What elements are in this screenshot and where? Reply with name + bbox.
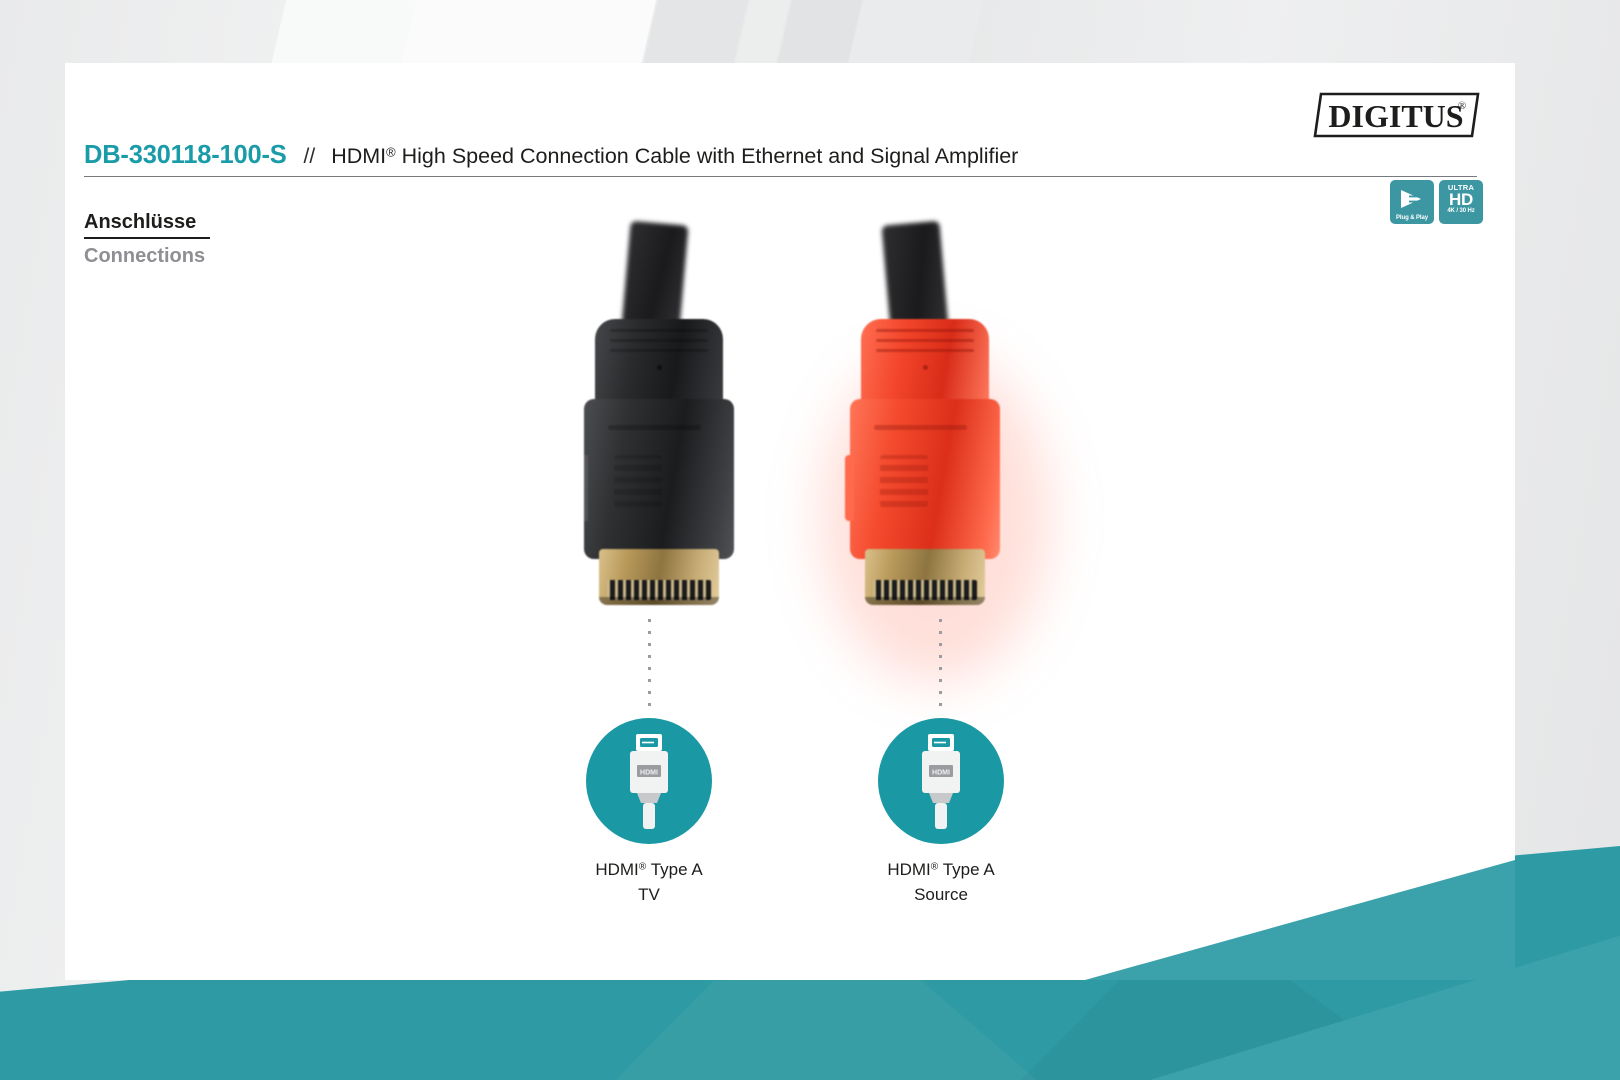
strain-relief-collar — [595, 319, 723, 411]
badge-plug-and-play-caption: Plug & Play — [1390, 215, 1434, 224]
connector-label-rest: Type A — [646, 860, 702, 879]
title-main: HDMI — [331, 144, 386, 168]
card-teal-corner — [1085, 860, 1515, 980]
connector-sublabel-source: Source — [831, 883, 1051, 908]
leader-line-source — [939, 619, 942, 715]
gold-plug-tip — [599, 549, 719, 605]
logo-wordmark: DIGITUS — [1328, 98, 1463, 134]
hdmi-icon-text: HDMI — [932, 770, 950, 777]
logo-trademark: ® — [1458, 100, 1466, 112]
section-heading: Anschlüsse Connections — [84, 211, 210, 268]
badge-ultra-hd-line2: HD — [1449, 192, 1473, 208]
leader-line-tv — [648, 619, 651, 715]
connector-shell — [584, 399, 734, 559]
connector-label-source: HDMI® Type A Source — [831, 858, 1051, 907]
connector-label-rest: Type A — [938, 860, 994, 879]
connector-photo-tv — [563, 223, 763, 623]
hdmi-emboss — [614, 455, 662, 507]
hdmi-connector-icon: HDMI — [878, 718, 1004, 844]
title-rest: High Speed Connection Cable with Etherne… — [396, 144, 1019, 168]
section-heading-en: Connections — [84, 245, 210, 268]
product-sku: DB-330118-100-S — [84, 141, 287, 170]
play-arrow-icon — [1390, 180, 1434, 215]
connector-photo-source — [835, 223, 1035, 623]
collar-dot — [657, 365, 662, 370]
connector-icon-group-source: HDMI HDMI® Type A Source — [831, 718, 1051, 907]
connector-label-tv: HDMI® Type A TV — [539, 858, 759, 907]
collar-dot — [923, 365, 928, 370]
hdmi-emboss — [880, 455, 928, 507]
title-trademark-icon: ® — [386, 144, 396, 159]
section-heading-de: Anschlüsse — [84, 211, 210, 239]
product-title-row: DB-330118-100-S // HDMI® High Speed Conn… — [84, 141, 1477, 177]
connector-label-main: HDMI — [887, 860, 930, 879]
page-title: HDMI® High Speed Connection Cable with E… — [331, 144, 1018, 169]
connector-shell — [850, 399, 1000, 559]
connector-sublabel-tv: TV — [539, 883, 759, 908]
datasheet-page: DIGITUS ® DB-330118-100-S // HDMI® High … — [0, 0, 1620, 1080]
badge-plug-and-play: Plug & Play — [1390, 180, 1434, 224]
hdmi-connector-icon: HDMI — [586, 718, 712, 844]
content-card: DIGITUS ® DB-330118-100-S // HDMI® High … — [65, 63, 1515, 980]
strain-relief-collar — [861, 319, 989, 411]
gold-plug-tip — [865, 549, 985, 605]
connector-label-main: HDMI — [595, 860, 638, 879]
badge-ultra-hd-caption: 4K / 30 Hz — [1439, 208, 1483, 217]
title-separator: // — [304, 145, 316, 169]
hdmi-icon-text: HDMI — [640, 770, 658, 777]
product-photo — [535, 223, 1055, 623]
badge-ultra-hd: ULTRA HD 4K / 30 Hz — [1439, 180, 1483, 224]
certification-badges: Plug & Play ULTRA HD 4K / 30 Hz — [1390, 180, 1483, 224]
connector-icon-group-tv: HDMI HDMI® Type A TV — [539, 718, 759, 907]
digitus-logo: DIGITUS ® — [1312, 91, 1480, 139]
